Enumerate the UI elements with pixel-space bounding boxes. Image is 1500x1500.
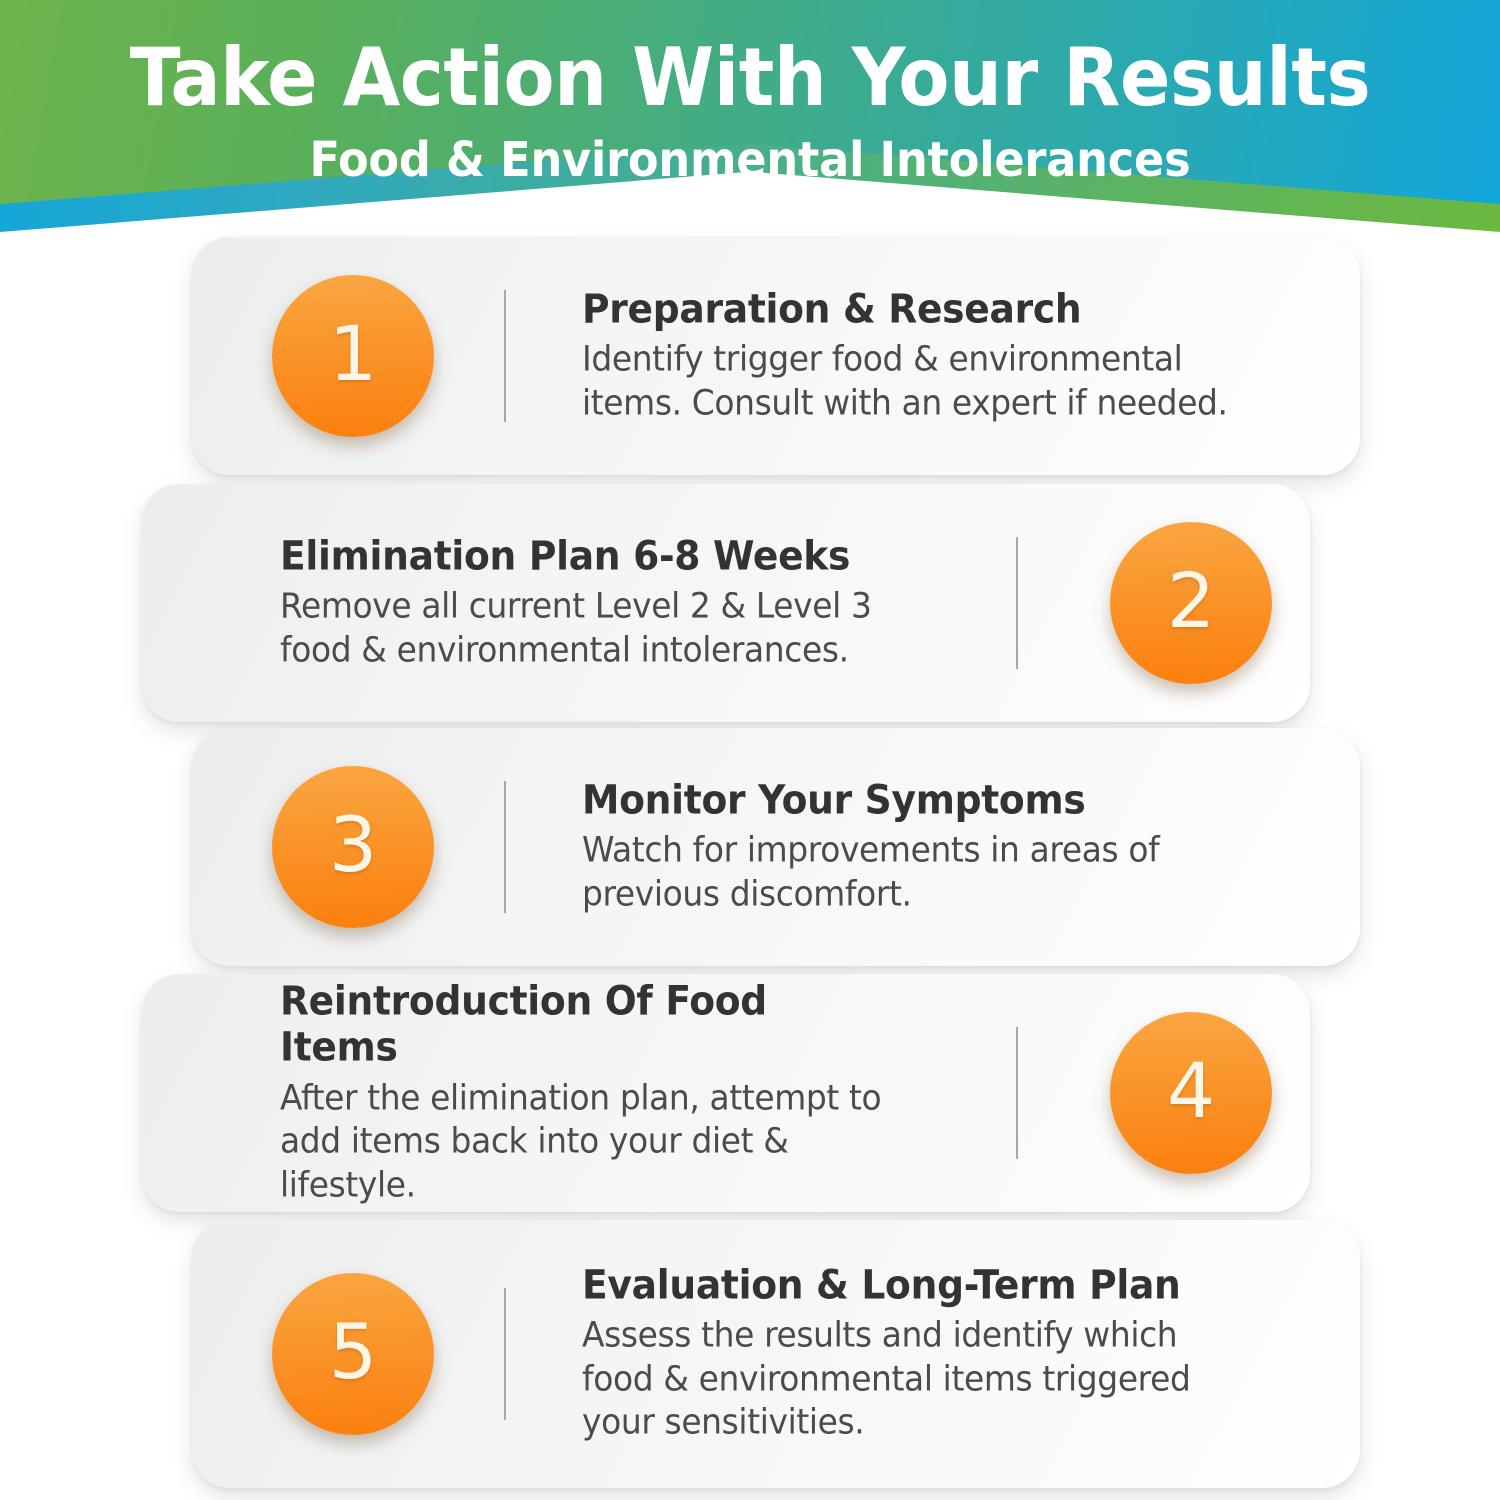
step-description-2: Remove all current Level 2 & Level 3 foo…	[280, 586, 893, 673]
step-number-5: 5	[329, 1314, 377, 1390]
step-text-5: Evaluation & Long-Term Plan Assess the r…	[582, 1263, 1300, 1446]
header-banner: Take Action With Your Results Food & Env…	[0, 0, 1500, 232]
step-number-badge-2: 2	[1110, 522, 1272, 684]
step-divider-5	[504, 1288, 506, 1420]
header-text-block: Take Action With Your Results Food & Env…	[0, 0, 1500, 232]
page-subtitle: Food & Environmental Intolerances	[53, 118, 1448, 184]
infographic-poster: Take Action With Your Results Food & Env…	[0, 0, 1500, 1500]
step-number-badge-4: 4	[1110, 1012, 1272, 1174]
step-title-1: Preparation & Research	[582, 286, 1257, 332]
steps-list: 1 Preparation & Research Identify trigge…	[0, 232, 1500, 1500]
step-description-5: Assess the results and identify which fo…	[582, 1315, 1257, 1445]
step-description-3: Watch for improvements in areas of previ…	[582, 830, 1257, 917]
step-card-5: 5 Evaluation & Long-Term Plan Assess the…	[192, 1220, 1360, 1488]
step-card-4: 4 Reintroduction Of Food Items After the…	[142, 974, 1310, 1212]
step-title-2: Elimination Plan 6-8 Weeks	[280, 533, 893, 579]
step-divider-2	[1016, 537, 1018, 669]
step-description-4: After the elimination plan, attempt to a…	[280, 1077, 893, 1207]
step-card-3: 3 Monitor Your Symptoms Watch for improv…	[192, 728, 1360, 966]
step-divider-3	[504, 781, 506, 913]
step-card-1: 1 Preparation & Research Identify trigge…	[192, 237, 1360, 475]
step-text-4: Reintroduction Of Food Items After the e…	[280, 979, 932, 1208]
step-text-3: Monitor Your Symptoms Watch for improvem…	[582, 777, 1300, 916]
step-title-3: Monitor Your Symptoms	[582, 777, 1257, 823]
step-title-5: Evaluation & Long-Term Plan	[582, 1263, 1257, 1309]
page-title: Take Action With Your Results	[53, 0, 1448, 118]
step-card-2: 2 Elimination Plan 6-8 Weeks Remove all …	[142, 484, 1310, 722]
step-number-badge-5: 5	[272, 1273, 434, 1435]
step-title-4: Reintroduction Of Food Items	[280, 979, 893, 1072]
step-number-badge-3: 3	[272, 766, 434, 928]
step-divider-4	[1016, 1027, 1018, 1159]
step-number-3: 3	[329, 807, 377, 883]
step-text-1: Preparation & Research Identify trigger …	[582, 286, 1300, 425]
step-number-2: 2	[1167, 563, 1215, 639]
step-number-4: 4	[1167, 1053, 1215, 1129]
step-number-badge-1: 1	[272, 275, 434, 437]
step-description-1: Identify trigger food & environmental it…	[582, 339, 1257, 426]
step-number-1: 1	[329, 316, 377, 392]
step-divider-1	[504, 290, 506, 422]
step-text-2: Elimination Plan 6-8 Weeks Remove all cu…	[280, 533, 932, 672]
